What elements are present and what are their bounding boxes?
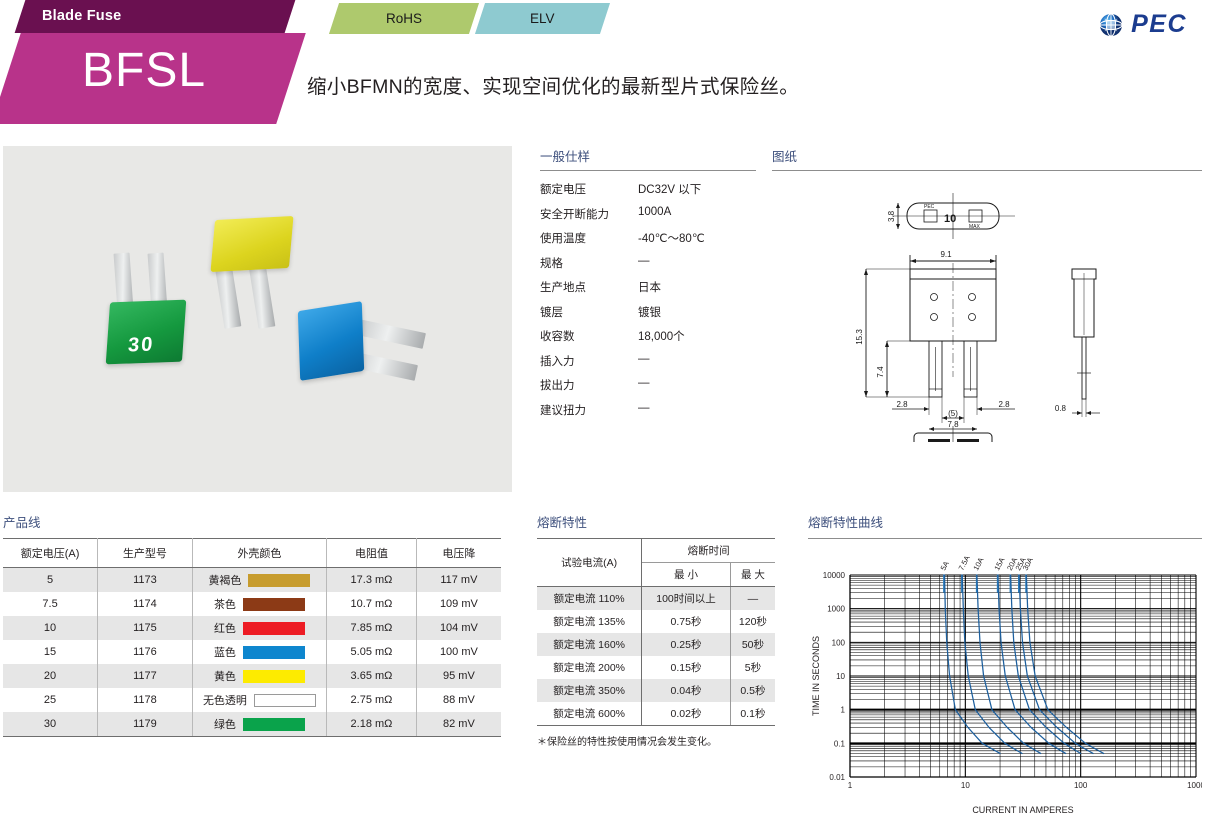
y-tick-label: 1 <box>841 706 846 715</box>
color-cell: 黄色 <box>192 664 326 688</box>
table-cell: 1177 <box>98 664 193 688</box>
table-cell: 7.85 mΩ <box>327 616 417 640</box>
table-row: 额定电流 350%0.04秒0.5秒 <box>537 679 775 702</box>
spec-key: 收容数 <box>540 328 638 344</box>
table-cell: 1178 <box>98 688 193 712</box>
table-cell: 25 <box>3 688 98 712</box>
color-swatch <box>248 574 310 587</box>
page-header: Blade Fuse BFSL RoHS ELV 缩小BFMN的宽度、实现空间优… <box>0 0 1205 124</box>
swatch-wrapper: 黄褐色 <box>195 572 324 588</box>
curve-30A <box>1026 575 1104 753</box>
color-cell: 蓝色 <box>192 640 326 664</box>
fuse-amp-label: 30 <box>127 334 155 358</box>
fusing-curve-chart: 0.010.11101001000100001101001000CURRENT … <box>808 539 1202 817</box>
spec-value: 镀银 <box>638 304 661 320</box>
table-cell: 0.1秒 <box>730 702 775 726</box>
column-header: 生产型号 <box>98 539 193 568</box>
fuse-body <box>210 216 293 272</box>
swatch-wrapper: 红色 <box>195 620 324 636</box>
table-cell: 额定电流 110% <box>537 587 642 611</box>
swatch-wrapper: 绿色 <box>195 716 324 732</box>
color-cell: 绿色 <box>192 712 326 737</box>
table-cell: 5 <box>3 568 98 593</box>
product-title: BFSL <box>82 47 206 95</box>
x-axis-label: CURRENT IN AMPERES <box>972 805 1073 815</box>
fuse-leg <box>356 319 426 349</box>
spec-row: 额定电压DC32V 以下 <box>540 181 756 197</box>
table-cell: 82 mV <box>416 712 501 737</box>
color-swatch <box>243 622 305 635</box>
spec-key: 生产地点 <box>540 279 638 295</box>
curve-7.5A <box>962 575 1022 753</box>
swatch-wrapper: 无色透明 <box>195 692 324 708</box>
svg-text:(5): (5) <box>948 409 958 418</box>
table-cell: — <box>730 587 775 611</box>
fusing-col-time-group: 熔断时间 <box>642 539 775 563</box>
spec-key: 镀层 <box>540 304 638 320</box>
color-name: 无色透明 <box>203 692 247 708</box>
fusing-col-max: 最 大 <box>730 563 775 587</box>
fusing-title: 熔断特性 <box>537 512 785 538</box>
table-cell: 额定电流 600% <box>537 702 642 726</box>
x-tick-label: 1000 <box>1187 781 1202 790</box>
color-name: 黄褐色 <box>208 572 241 588</box>
spec-row: 安全开断能力1000A <box>540 206 756 222</box>
table-row: 151176蓝色5.05 mΩ100 mV <box>3 640 501 664</box>
specs-title: 一般仕样 <box>540 146 756 171</box>
curve-title: 熔断特性曲线 <box>808 512 1202 539</box>
spec-row: 收容数18,000个 <box>540 328 756 344</box>
spec-value: — <box>638 255 650 271</box>
table-cell: 额定电流 350% <box>537 679 642 702</box>
product-line-table: 额定电压(A)生产型号外壳颜色电阻值电压降 51173黄褐色17.3 mΩ117… <box>3 538 501 737</box>
color-name: 绿色 <box>214 716 236 732</box>
table-cell: 7.5 <box>3 592 98 616</box>
color-cell: 黄褐色 <box>192 568 326 593</box>
table-cell: 5.05 mΩ <box>327 640 417 664</box>
product-category-label: Blade Fuse <box>42 8 121 24</box>
spec-value: DC32V 以下 <box>638 181 701 197</box>
table-cell: 0.25秒 <box>642 633 731 656</box>
table-cell: 1175 <box>98 616 193 640</box>
spec-value: 18,000个 <box>638 328 685 344</box>
table-cell: 额定电流 135% <box>537 610 642 633</box>
table-cell: 95 mV <box>416 664 501 688</box>
table-row: 201177黄色3.65 mΩ95 mV <box>3 664 501 688</box>
table-cell: 1173 <box>98 568 193 593</box>
swatch-wrapper: 茶色 <box>195 596 324 612</box>
table-cell: 0.02秒 <box>642 702 731 726</box>
svg-text:3.8: 3.8 <box>887 210 896 222</box>
badge-rohs: RoHS <box>329 3 479 34</box>
spec-value: — <box>638 353 650 369</box>
column-header: 外壳颜色 <box>192 539 326 568</box>
svg-text:2.8: 2.8 <box>998 400 1010 409</box>
table-header-row: 额定电压(A)生产型号外壳颜色电阻值电压降 <box>3 539 501 568</box>
table-cell: 15 <box>3 640 98 664</box>
fusing-col-min: 最 小 <box>642 563 731 587</box>
table-row: 51173黄褐色17.3 mΩ117 mV <box>3 568 501 593</box>
color-cell: 无色透明 <box>192 688 326 712</box>
color-name: 蓝色 <box>214 644 236 660</box>
curve-20A <box>1010 575 1080 753</box>
y-tick-label: 0.01 <box>829 773 845 782</box>
technical-drawing-section: 图纸 PEC MAX 10 3.8 <box>772 146 1202 442</box>
spec-row: 拔出力— <box>540 377 756 393</box>
column-header: 额定电压(A) <box>3 539 98 568</box>
swatch-wrapper: 黄色 <box>195 668 324 684</box>
company-logo: PEC <box>1098 10 1187 39</box>
color-name: 红色 <box>214 620 236 636</box>
spec-key: 额定电压 <box>540 181 638 197</box>
table-cell: 额定电流 200% <box>537 656 642 679</box>
table-cell: 额定电流 160% <box>537 633 642 656</box>
table-row: 额定电流 600%0.02秒0.1秒 <box>537 702 775 726</box>
table-cell: 2.18 mΩ <box>327 712 417 737</box>
table-cell: 104 mV <box>416 616 501 640</box>
specs-list: 额定电压DC32V 以下安全开断能力1000A使用温度-40℃～80℃规格—生产… <box>540 181 756 418</box>
table-cell: 1174 <box>98 592 193 616</box>
spec-key: 插入力 <box>540 353 638 369</box>
y-tick-label: 100 <box>832 638 846 647</box>
general-specifications: 一般仕样 额定电压DC32V 以下安全开断能力1000A使用温度-40℃～80℃… <box>540 146 756 426</box>
svg-text:PEC: PEC <box>924 204 935 210</box>
y-tick-label: 10000 <box>823 571 846 580</box>
fusing-table-body: 额定电流 110%100时间以上—额定电流 135%0.75秒120秒额定电流 … <box>537 587 775 726</box>
fusing-characteristics-section: 熔断特性 试验电流(A) 熔断时间 最 小 最 大 额定电流 110%100时间… <box>537 512 785 748</box>
spec-row: 规格— <box>540 255 756 271</box>
curve-label-15A: 15A <box>992 556 1006 572</box>
svg-text:0.8: 0.8 <box>1055 404 1067 413</box>
badge-rohs-label: RoHS <box>386 11 422 26</box>
table-row: 301179绿色2.18 mΩ82 mV <box>3 712 501 737</box>
drawing-title: 图纸 <box>772 146 1202 171</box>
spec-row: 镀层镀银 <box>540 304 756 320</box>
spec-row: 建议扭力— <box>540 402 756 418</box>
table-row: 251178无色透明2.75 mΩ88 mV <box>3 688 501 712</box>
spec-value: — <box>638 377 650 393</box>
fuse-dimension-drawing: PEC MAX 10 3.8 9.1 <box>772 177 1202 442</box>
x-tick-label: 100 <box>1074 781 1088 790</box>
svg-text:MAX: MAX <box>969 224 981 230</box>
table-row: 额定电流 160%0.25秒50秒 <box>537 633 775 656</box>
table-cell: 30 <box>3 712 98 737</box>
column-header: 电压降 <box>416 539 501 568</box>
curve-label-7.5A: 7.5A <box>957 554 972 572</box>
product-line-title: 产品线 <box>3 512 501 538</box>
spec-value: 日本 <box>638 279 661 295</box>
fusing-characteristics-table: 试验电流(A) 熔断时间 最 小 最 大 额定电流 110%100时间以上—额定… <box>537 538 775 726</box>
spec-row: 插入力— <box>540 353 756 369</box>
table-cell: 2.75 mΩ <box>327 688 417 712</box>
product-subtitle: 缩小BFMN的宽度、实现空间优化的最新型片式保险丝。 <box>307 70 799 99</box>
table-cell: 109 mV <box>416 592 501 616</box>
x-tick-label: 10 <box>961 781 970 790</box>
svg-text:10: 10 <box>944 213 956 225</box>
table-cell: 10 <box>3 616 98 640</box>
color-name: 茶色 <box>214 596 236 612</box>
x-tick-label: 1 <box>848 781 853 790</box>
fusing-note: ＊保险丝的特性按使用情况会发生变化。 <box>537 733 785 748</box>
table-cell: 100时间以上 <box>642 587 731 611</box>
fusing-header-row-1: 试验电流(A) 熔断时间 <box>537 539 775 563</box>
y-tick-label: 10 <box>836 672 845 681</box>
table-cell: 0.5秒 <box>730 679 775 702</box>
table-body: 51173黄褐色17.3 mΩ117 mV7.51174茶色10.7 mΩ109… <box>3 568 501 737</box>
product-photo: 30 <box>3 146 512 492</box>
table-cell: 1176 <box>98 640 193 664</box>
drawing-canvas: PEC MAX 10 3.8 9.1 <box>772 177 1202 442</box>
table-row: 额定电流 135%0.75秒120秒 <box>537 610 775 633</box>
spec-value: — <box>638 402 650 418</box>
logo-text: PEC <box>1131 10 1187 39</box>
fuse-body <box>298 301 364 381</box>
color-swatch <box>243 598 305 611</box>
fusing-curve-section: 熔断特性曲线 0.010.11101001000100001101001000C… <box>808 512 1202 817</box>
swatch-wrapper: 蓝色 <box>195 644 324 660</box>
table-cell: 10.7 mΩ <box>327 592 417 616</box>
table-cell: 1179 <box>98 712 193 737</box>
svg-text:2.8: 2.8 <box>896 400 908 409</box>
table-cell: 17.3 mΩ <box>327 568 417 593</box>
table-cell: 117 mV <box>416 568 501 593</box>
product-line-section: 产品线 额定电压(A)生产型号外壳颜色电阻值电压降 51173黄褐色17.3 m… <box>3 512 501 737</box>
badge-elv-label: ELV <box>530 11 555 26</box>
curve-chart-canvas: 0.010.11101001000100001101001000CURRENT … <box>808 539 1202 817</box>
table-cell: 88 mV <box>416 688 501 712</box>
table-cell: 120秒 <box>730 610 775 633</box>
table-cell: 5秒 <box>730 656 775 679</box>
y-tick-label: 1000 <box>827 605 845 614</box>
table-cell: 0.15秒 <box>642 656 731 679</box>
curve-label-5A: 5A <box>939 560 951 572</box>
color-cell: 茶色 <box>192 592 326 616</box>
table-cell: 0.75秒 <box>642 610 731 633</box>
globe-icon <box>1098 12 1124 38</box>
spec-key: 建议扭力 <box>540 402 638 418</box>
table-cell: 0.04秒 <box>642 679 731 702</box>
table-row: 额定电流 110%100时间以上— <box>537 587 775 611</box>
svg-text:15.3: 15.3 <box>855 329 864 345</box>
table-cell: 50秒 <box>730 633 775 656</box>
table-cell: 3.65 mΩ <box>327 664 417 688</box>
svg-text:9.1: 9.1 <box>940 250 952 259</box>
table-row: 额定电流 200%0.15秒5秒 <box>537 656 775 679</box>
spec-key: 安全开断能力 <box>540 206 638 222</box>
spec-value: 1000A <box>638 206 671 222</box>
curve-label-10A: 10A <box>971 556 985 572</box>
color-swatch <box>243 718 305 731</box>
spec-key: 规格 <box>540 255 638 271</box>
color-swatch <box>243 646 305 659</box>
spec-row: 使用温度-40℃～80℃ <box>540 230 756 246</box>
color-name: 黄色 <box>214 668 236 684</box>
table-row: 101175红色7.85 mΩ104 mV <box>3 616 501 640</box>
spec-value: -40℃～80℃ <box>638 230 705 246</box>
curve-5A <box>944 575 1000 753</box>
spec-key: 拔出力 <box>540 377 638 393</box>
color-swatch <box>243 670 305 683</box>
color-swatch <box>254 694 316 707</box>
spec-key: 使用温度 <box>540 230 638 246</box>
badge-elv: ELV <box>475 3 610 34</box>
table-cell: 100 mV <box>416 640 501 664</box>
column-header: 电阻值 <box>327 539 417 568</box>
color-cell: 红色 <box>192 616 326 640</box>
y-tick-label: 0.1 <box>834 739 846 748</box>
svg-text:7.4: 7.4 <box>876 366 885 378</box>
fusing-col-current: 试验电流(A) <box>537 539 642 587</box>
spec-row: 生产地点日本 <box>540 279 756 295</box>
table-row: 7.51174茶色10.7 mΩ109 mV <box>3 592 501 616</box>
y-axis-label: TIME IN SECONDS <box>811 636 821 716</box>
table-cell: 20 <box>3 664 98 688</box>
